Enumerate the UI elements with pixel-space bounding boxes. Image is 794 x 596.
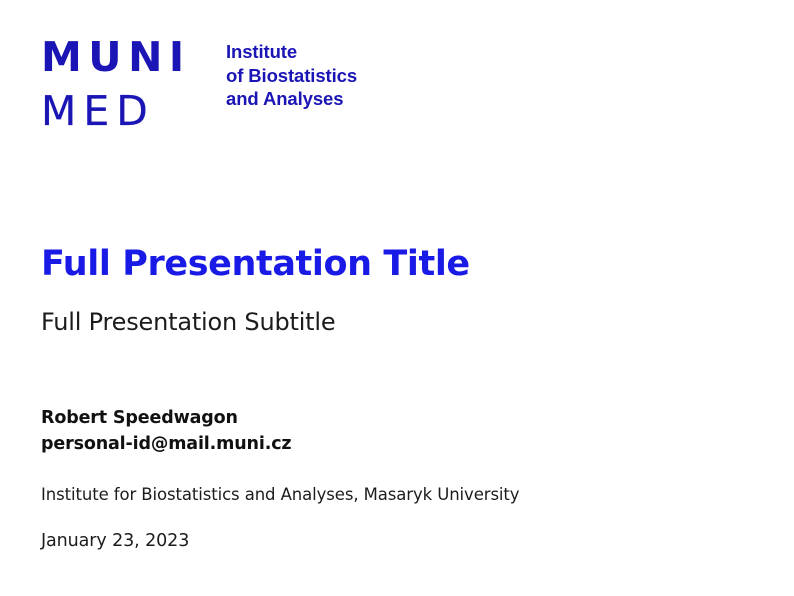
logo-institute-line-1: Institute — [226, 40, 357, 64]
logo-institute-line-2: of Biostatistics — [226, 64, 357, 88]
author-affiliation: Institute for Biostatistics and Analyses… — [41, 483, 519, 507]
muni-med-logo: MUNI MED Institute of Biostatistics and … — [41, 33, 357, 134]
presentation-date: January 23, 2023 — [41, 529, 189, 554]
presentation-title: Full Presentation Title — [41, 242, 470, 286]
logo-institute-line-3: and Analyses — [226, 87, 357, 111]
author-email: personal-id@mail.muni.cz — [41, 431, 291, 457]
logo-muni-text: MUNI — [41, 33, 181, 81]
author-name: Robert Speedwagon — [41, 405, 291, 431]
logo-med-text: MED — [41, 88, 181, 134]
author-info: Robert Speedwagon personal-id@mail.muni.… — [41, 405, 291, 457]
logo-institute-name: Institute of Biostatistics and Analyses — [226, 40, 357, 111]
logo-wordmark: MUNI MED — [41, 33, 181, 134]
presentation-subtitle: Full Presentation Subtitle — [41, 306, 335, 338]
title-slide: MUNI MED Institute of Biostatistics and … — [0, 0, 794, 596]
